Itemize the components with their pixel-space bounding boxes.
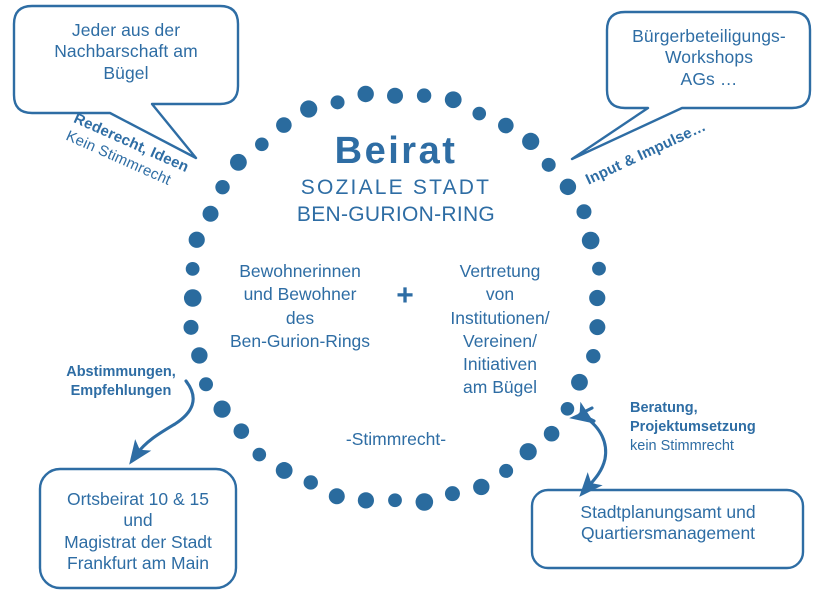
ring-dot bbox=[473, 479, 489, 495]
ring-dot bbox=[253, 448, 267, 462]
ring-dot bbox=[230, 154, 247, 171]
page-subtitle-1: SOZIALE STADT bbox=[263, 175, 529, 201]
members-institutions-column: Vertretung von Institutionen/ Vereinen/ … bbox=[421, 260, 579, 400]
ring-dot bbox=[472, 107, 486, 121]
connector-label-bottom-right-line-1: Beratung, bbox=[630, 399, 820, 418]
connector-label-bottom-left-line-2: Empfehlungen bbox=[46, 382, 196, 401]
ring-dot bbox=[215, 180, 229, 194]
connector-label-bottom-right-line-2: Projektumsetzung bbox=[630, 418, 820, 437]
box-br-line-1: Stadtplanungsamt und bbox=[543, 502, 793, 523]
page-subtitle-2: BEN-GURION-RING bbox=[263, 202, 529, 228]
box-bl-line-1: Ortsbeirat 10 & 15 bbox=[46, 489, 230, 510]
ring-dot bbox=[417, 88, 431, 102]
institutions-line-3: Institutionen/ bbox=[421, 307, 579, 330]
ring-dot bbox=[234, 423, 250, 439]
arrow-bottom-right bbox=[580, 408, 606, 488]
ring-dot bbox=[561, 402, 575, 416]
institutions-line-1: Vertretung bbox=[421, 260, 579, 283]
ring-dot bbox=[184, 289, 202, 307]
ring-dot bbox=[387, 88, 403, 104]
residents-line-2: und Bewohner bbox=[211, 283, 389, 306]
ring-dot bbox=[304, 475, 318, 489]
box-bottom-right-text: Stadtplanungsamt und Quartiersmanagement bbox=[543, 502, 793, 545]
connector-label-top-right-line-1: Input & Impulse… bbox=[583, 118, 709, 190]
ring-dot bbox=[358, 492, 374, 508]
ring-dot bbox=[388, 493, 402, 507]
connector-label-bottom-left: Abstimmungen, Empfehlungen bbox=[46, 363, 196, 401]
ring-dot bbox=[560, 179, 576, 195]
ring-dot bbox=[184, 320, 199, 335]
institutions-line-4: Vereinen/ bbox=[421, 330, 579, 353]
plus-icon: + bbox=[389, 278, 421, 315]
members-residents-column: Bewohnerinnen und Bewohner des Ben-Gurio… bbox=[211, 260, 389, 353]
institutions-line-5: Initiativen bbox=[421, 353, 579, 376]
ring-dot bbox=[586, 349, 600, 363]
ring-dot bbox=[329, 488, 345, 504]
institutions-line-2: von bbox=[421, 283, 579, 306]
ring-dot bbox=[189, 232, 205, 248]
residents-line-3: des bbox=[211, 307, 389, 330]
bubble-tl-line-3: Bügel bbox=[24, 63, 228, 84]
institutions-line-6: am Bügel bbox=[421, 376, 579, 399]
ring-dot bbox=[203, 206, 219, 222]
box-bl-line-3: Magistrat der Stadt bbox=[46, 532, 230, 553]
bubble-tl-line-1: Jeder aus der bbox=[24, 20, 228, 41]
connector-label-bottom-right: Beratung, Projektumsetzung kein Stimmrec… bbox=[630, 399, 820, 456]
bubble-tr-line-1: Bürgerbeteiligungs- bbox=[616, 26, 802, 47]
connector-label-top-right: Input & Impulse… bbox=[583, 118, 709, 190]
ring-dot bbox=[331, 95, 345, 109]
ring-dot bbox=[213, 401, 230, 418]
diagram-canvas: Jeder aus der Nachbarschaft am Bügel Bür… bbox=[0, 0, 820, 600]
ring-dot bbox=[542, 158, 556, 172]
ring-dot bbox=[589, 290, 605, 306]
ring-dot bbox=[592, 262, 606, 276]
ring-dot bbox=[276, 462, 293, 479]
box-bl-line-2: und bbox=[46, 510, 230, 531]
ring-dot bbox=[582, 232, 600, 250]
ring-dot bbox=[576, 204, 591, 219]
page-title: Beirat bbox=[263, 128, 529, 174]
ring-dot bbox=[589, 319, 605, 335]
ring-dot bbox=[357, 86, 373, 102]
box-bottom-left-text: Ortsbeirat 10 & 15 und Magistrat der Sta… bbox=[46, 489, 230, 574]
ring-dot bbox=[416, 493, 434, 511]
ring-dot bbox=[445, 486, 460, 501]
residents-line-4: Ben-Gurion-Rings bbox=[211, 330, 389, 353]
ring-dot bbox=[445, 91, 462, 108]
connector-label-bottom-left-line-1: Abstimmungen, bbox=[46, 363, 196, 382]
box-br-line-2: Quartiersmanagement bbox=[543, 523, 793, 544]
ring-dot bbox=[544, 426, 560, 442]
speech-bubble-top-left-text: Jeder aus der Nachbarschaft am Bügel bbox=[24, 20, 228, 84]
voting-rights-note: -Stimmrecht- bbox=[296, 429, 496, 450]
box-bl-line-4: Frankfurt am Main bbox=[46, 553, 230, 574]
bubble-tr-line-3: AGs … bbox=[616, 69, 802, 90]
bubble-tl-line-2: Nachbarschaft am bbox=[24, 41, 228, 62]
ring-dot bbox=[520, 443, 537, 460]
ring-dot bbox=[499, 464, 513, 478]
connector-label-bottom-right-line-3: kein Stimmrecht bbox=[630, 437, 820, 456]
residents-line-1: Bewohnerinnen bbox=[211, 260, 389, 283]
ring-dot bbox=[191, 347, 207, 363]
ring-dot bbox=[186, 262, 200, 276]
ring-dot bbox=[300, 100, 317, 117]
ring-dot bbox=[199, 377, 213, 391]
bubble-tr-line-2: Workshops bbox=[616, 47, 802, 68]
speech-bubble-top-right-text: Bürgerbeteiligungs- Workshops AGs … bbox=[616, 26, 802, 90]
